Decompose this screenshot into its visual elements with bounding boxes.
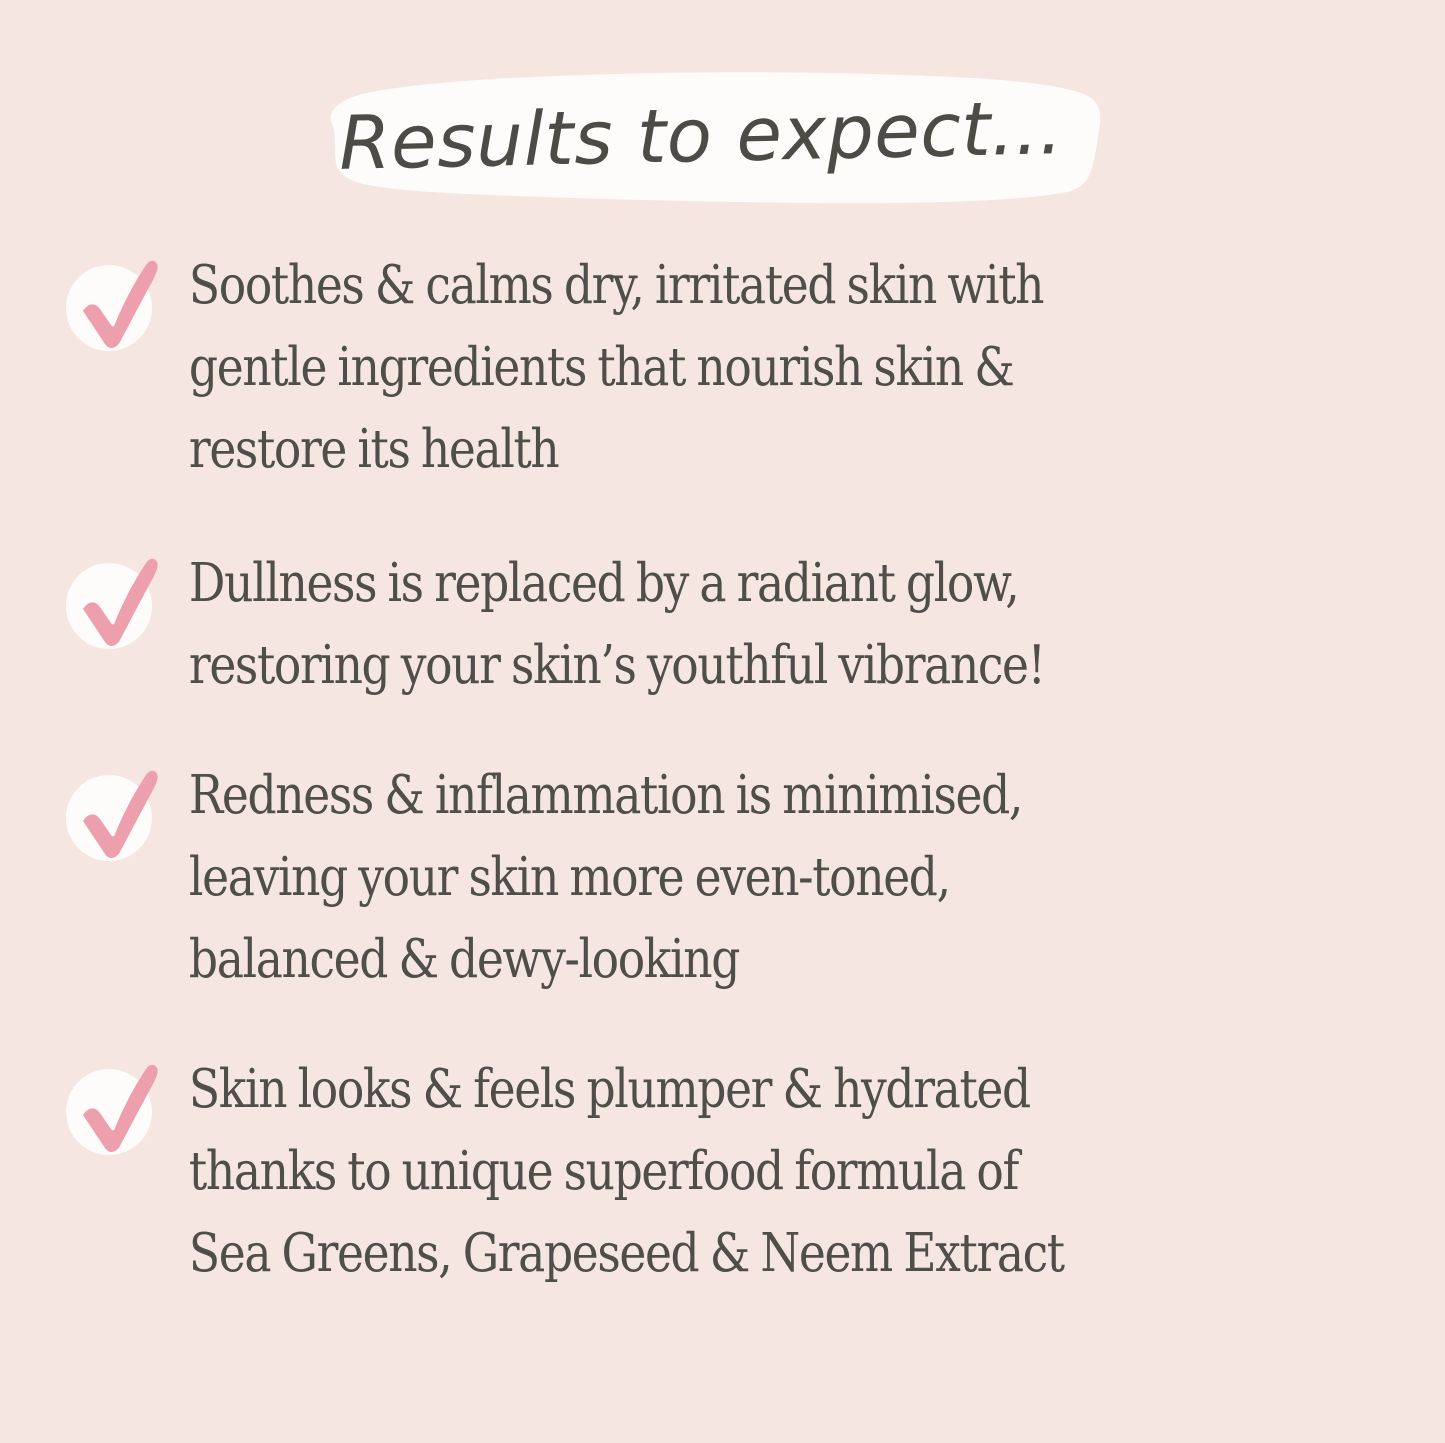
- check-mark-icon: [62, 551, 170, 655]
- list-item-text: Dullness is replaced by a radiant glow, …: [170, 543, 1205, 707]
- page-title-banner: Results to expect...: [296, 68, 1106, 204]
- benefits-list: Soothes & calms dry, irritated skin with…: [0, 245, 1445, 1295]
- page-title: Results to expect...: [295, 59, 1108, 213]
- list-item-text: Soothes & calms dry, irritated skin with…: [170, 245, 1205, 491]
- check-mark-icon: [62, 763, 170, 867]
- check-mark-icon: [62, 253, 170, 357]
- list-item: Dullness is replaced by a radiant glow, …: [0, 543, 1445, 707]
- check-mark-icon: [62, 1057, 170, 1161]
- list-item: Soothes & calms dry, irritated skin with…: [0, 245, 1445, 491]
- list-item-text: Redness & inflammation is minimised, lea…: [170, 755, 1205, 1001]
- list-item: Redness & inflammation is minimised, lea…: [0, 755, 1445, 1001]
- list-item-text: Skin looks & feels plumper & hydrated th…: [170, 1049, 1205, 1295]
- list-item: Skin looks & feels plumper & hydrated th…: [0, 1049, 1445, 1295]
- results-to-expect-panel: Results to expect... Soothes & calms dry…: [0, 0, 1445, 1443]
